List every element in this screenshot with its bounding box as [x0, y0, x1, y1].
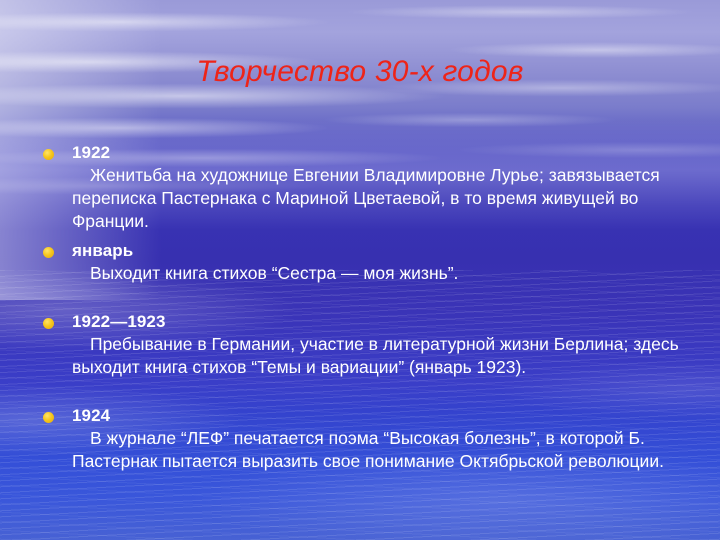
list-item-body: Женитьба на художнице Евгении Владимиров… [72, 164, 700, 232]
list-item-heading: 1922 [72, 142, 700, 164]
list-item-body: Пребывание в Германии, участие в литерат… [72, 333, 700, 379]
slide-title: Творчество 30-х годов [0, 55, 720, 89]
bullet-icon [43, 247, 54, 258]
list-item: 1922—1923 Пребывание в Германии, участие… [40, 311, 700, 379]
list-item-body: Выходит книга стихов “Сестра — моя жизнь… [72, 262, 700, 285]
list-item: 1924 В журнале “ЛЕФ” печатается поэма “В… [40, 405, 700, 473]
list-item-heading: январь [72, 240, 700, 262]
list-item-heading: 1922—1923 [72, 311, 700, 333]
bullet-icon [43, 318, 54, 329]
list-item: январь Выходит книга стихов “Сестра — мо… [40, 240, 700, 285]
list-item-heading: 1924 [72, 405, 700, 427]
bullet-icon [43, 412, 54, 423]
bullet-icon [43, 149, 54, 160]
list-item: 1922 Женитьба на художнице Евгении Влади… [40, 142, 700, 232]
slide-body: 1922 Женитьба на художнице Евгении Влади… [40, 142, 700, 472]
list-item-body: В журнале “ЛЕФ” печатается поэма “Высока… [72, 427, 700, 473]
presentation-slide: Творчество 30-х годов 1922 Женитьба на х… [0, 0, 720, 540]
